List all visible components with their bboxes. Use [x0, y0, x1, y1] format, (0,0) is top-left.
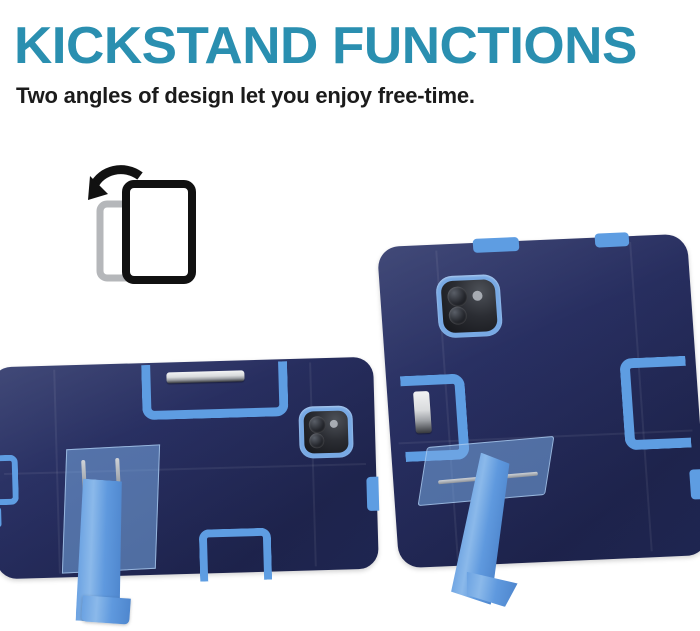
dual-camera-module [298, 405, 353, 458]
camera-lens [447, 286, 468, 307]
case-shell-landscape [0, 357, 379, 580]
camera-lens [309, 433, 324, 448]
camera-lens [448, 306, 467, 325]
pencil-slot-metal [413, 391, 432, 434]
tablet-case-portrait[interactable] [360, 232, 700, 631]
side-port-bracket [0, 455, 19, 506]
bottom-accent-bracket [199, 528, 272, 582]
page-title: KICKSTAND FUNCTIONS [14, 18, 699, 74]
dual-camera-module [435, 274, 503, 339]
camera-lens [309, 416, 326, 433]
product-feature-banner: KICKSTAND FUNCTIONS Two angles of design… [0, 0, 700, 631]
camera-flash [330, 420, 338, 428]
side-port-cutout [0, 507, 2, 527]
pencil-slot-metal [166, 370, 244, 383]
case-shell-portrait [377, 234, 700, 569]
side-accent-bracket [619, 356, 691, 451]
pencil-slot-accent [141, 361, 288, 420]
button-tab-icon [594, 232, 629, 247]
tablet-rotation-icon [88, 160, 238, 300]
tablet-case-landscape[interactable] [0, 352, 386, 631]
page-subtitle: Two angles of design let you enjoy free-… [16, 82, 475, 110]
side-accent [689, 469, 700, 499]
button-tab-icon [473, 237, 520, 253]
camera-flash [472, 291, 483, 301]
rotation-front-tablet-icon [126, 184, 192, 280]
kickstand-foot [81, 595, 131, 624]
